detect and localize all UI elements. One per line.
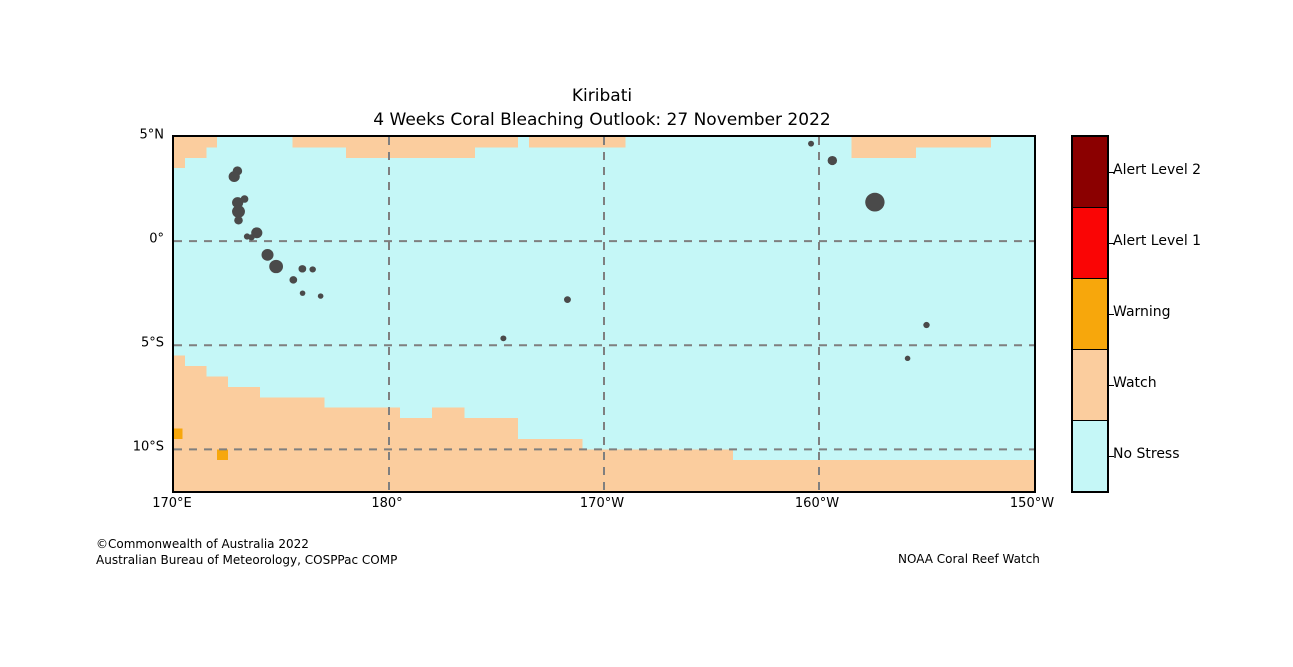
ytick-label: 10°S (133, 440, 164, 455)
colorbar-band (1073, 137, 1107, 207)
xtick-label: 180° (371, 496, 402, 511)
page-title: Kiribati 4 Weeks Coral Bleaching Outlook… (172, 84, 1032, 132)
footer-data-source: NOAA Coral Reef Watch (898, 552, 1040, 566)
colorbar-band (1073, 420, 1107, 491)
island-marker (808, 141, 814, 147)
island-marker (500, 335, 506, 341)
watch-cell (454, 137, 519, 147)
colorbar-band-label: No Stress (1113, 446, 1180, 462)
island-marker (262, 249, 274, 261)
island-marker (865, 193, 884, 212)
island-marker (318, 293, 324, 298)
watch-cell (400, 418, 432, 491)
colorbar-band (1073, 278, 1107, 349)
watch-cell (733, 470, 765, 491)
colorbar-band-label: Watch (1113, 375, 1157, 391)
island-marker (248, 234, 254, 240)
watch-cell (518, 439, 583, 491)
warning-cell (174, 429, 183, 439)
xtick-label: 170°W (580, 496, 624, 511)
island-marker (269, 260, 283, 273)
island-marker (564, 296, 571, 303)
ytick-label: 5°S (141, 336, 164, 351)
island-marker (234, 216, 243, 224)
colorbar-band (1073, 207, 1107, 278)
island-marker (298, 265, 306, 272)
watch-cell (765, 481, 797, 491)
longitude-axis-labels: 170°E180°170°W160°W150°W (172, 496, 1032, 518)
watch-cell (851, 147, 916, 157)
watch-cell (185, 366, 207, 491)
ytick-label: 0° (149, 232, 164, 247)
colorbar-band-label: Alert Level 2 (1113, 162, 1201, 178)
island-marker (905, 356, 911, 361)
colorbar-band-label: Warning (1113, 304, 1171, 320)
watch-cell (464, 418, 518, 491)
watch-cell (851, 137, 991, 147)
map-canvas[interactable] (174, 137, 1034, 491)
watch-cell (174, 356, 185, 491)
watch-cell (174, 158, 185, 168)
footer-agency: Australian Bureau of Meteorology, COSPPa… (96, 552, 397, 568)
watch-cell (346, 147, 475, 157)
map-plot-area[interactable] (172, 135, 1036, 493)
island-marker (300, 290, 306, 295)
watch-cell (583, 449, 691, 491)
island-marker (229, 171, 240, 182)
island-marker (232, 205, 245, 217)
title-line-region: Kiribati (172, 84, 1032, 108)
island-marker (289, 276, 297, 283)
xtick-label: 170°E (152, 496, 192, 511)
bleaching-alert-colorbar (1071, 135, 1109, 493)
island-marker (828, 156, 837, 165)
colorbar-labels: Alert Level 2Alert Level 1WarningWatchNo… (1113, 135, 1288, 489)
watch-cell (260, 397, 325, 491)
ytick-label: 5°N (140, 128, 165, 143)
coral-bleaching-outlook-figure: Kiribati 4 Weeks Coral Bleaching Outlook… (0, 0, 1293, 667)
footer-copyright: ©Commonwealth of Australia 2022 (96, 536, 397, 552)
watch-cell (529, 137, 626, 147)
title-line-product: 4 Weeks Coral Bleaching Outlook: 27 Nove… (172, 108, 1032, 132)
footer-attribution: ©Commonwealth of Australia 2022 Australi… (96, 536, 397, 568)
xtick-label: 160°W (795, 496, 839, 511)
watch-cell (174, 137, 206, 158)
watch-cell (206, 376, 228, 491)
island-marker (923, 322, 929, 328)
watch-cell (206, 137, 217, 147)
xtick-label: 150°W (1010, 496, 1054, 511)
latitude-axis-labels: 5°N0°5°S10°S (80, 135, 164, 489)
colorbar-band-label: Alert Level 1 (1113, 233, 1201, 249)
warning-cell (217, 449, 228, 459)
island-marker (309, 266, 315, 272)
watch-cell (690, 449, 733, 491)
watch-cell (228, 387, 260, 491)
colorbar-band (1073, 349, 1107, 420)
